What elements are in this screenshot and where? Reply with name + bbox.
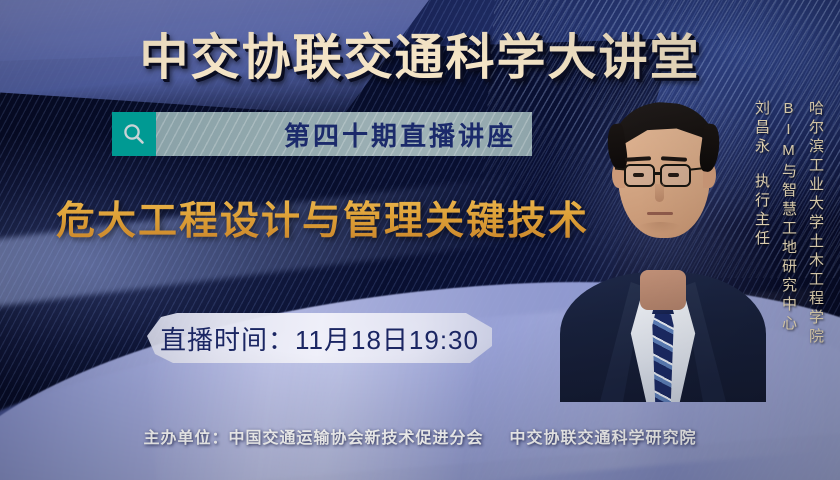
organizer-footer: 主办单位：中国交通运输协会新技术促进分会中交协联交通科学研究院 bbox=[0, 424, 840, 448]
speaker-affiliation-line2: BIM与智慧工地研究中心 bbox=[778, 100, 799, 334]
live-time-banner: 直播时间：11月18日19:30 bbox=[147, 313, 492, 363]
speaker-title: 执行主任 bbox=[751, 173, 772, 249]
speaker-name-block: 刘昌永 执行主任 bbox=[751, 100, 772, 249]
speaker-portrait bbox=[560, 72, 766, 402]
search-icon bbox=[121, 121, 147, 147]
portrait-neck bbox=[640, 270, 686, 310]
organizer-name-1: 中国交通运输协会新技术促进分会 bbox=[228, 430, 483, 447]
portrait-eye-right bbox=[668, 173, 679, 177]
portrait-chin-shadow bbox=[638, 222, 682, 234]
episode-band-body: 第四十期直播讲座 bbox=[156, 112, 532, 156]
speaker-name: 刘昌永 bbox=[751, 100, 772, 157]
poster-canvas: 中交协联交通科学大讲堂 第四十期直播讲座 危大工程设计与管理关键技术 直播时间：… bbox=[0, 0, 840, 480]
organizer-name-2: 中交协联交通科学研究院 bbox=[510, 430, 697, 447]
organizer-prefix: 主办单位： bbox=[143, 430, 228, 447]
speaker-affiliation-line1: 哈尔滨工业大学土木工程学院 bbox=[805, 100, 826, 347]
portrait-mouth bbox=[647, 212, 673, 215]
episode-label: 第四十期直播讲座 bbox=[284, 116, 516, 153]
main-title: 中交协联交通科学大讲堂 bbox=[0, 18, 840, 89]
episode-band: 第四十期直播讲座 bbox=[112, 112, 532, 156]
portrait-glasses-bridge bbox=[655, 172, 662, 175]
live-time-text: 直播时间：11月18日19:30 bbox=[160, 320, 479, 357]
portrait-nose bbox=[655, 184, 664, 202]
speaker-credentials: 哈尔滨工业大学土木工程学院 BIM与智慧工地研究中心 刘昌永 执行主任 bbox=[751, 100, 826, 347]
lecture-topic-headline: 危大工程设计与管理关键技术 bbox=[56, 190, 589, 246]
portrait-eye-left bbox=[633, 173, 644, 177]
search-icon-tile[interactable] bbox=[112, 112, 156, 156]
